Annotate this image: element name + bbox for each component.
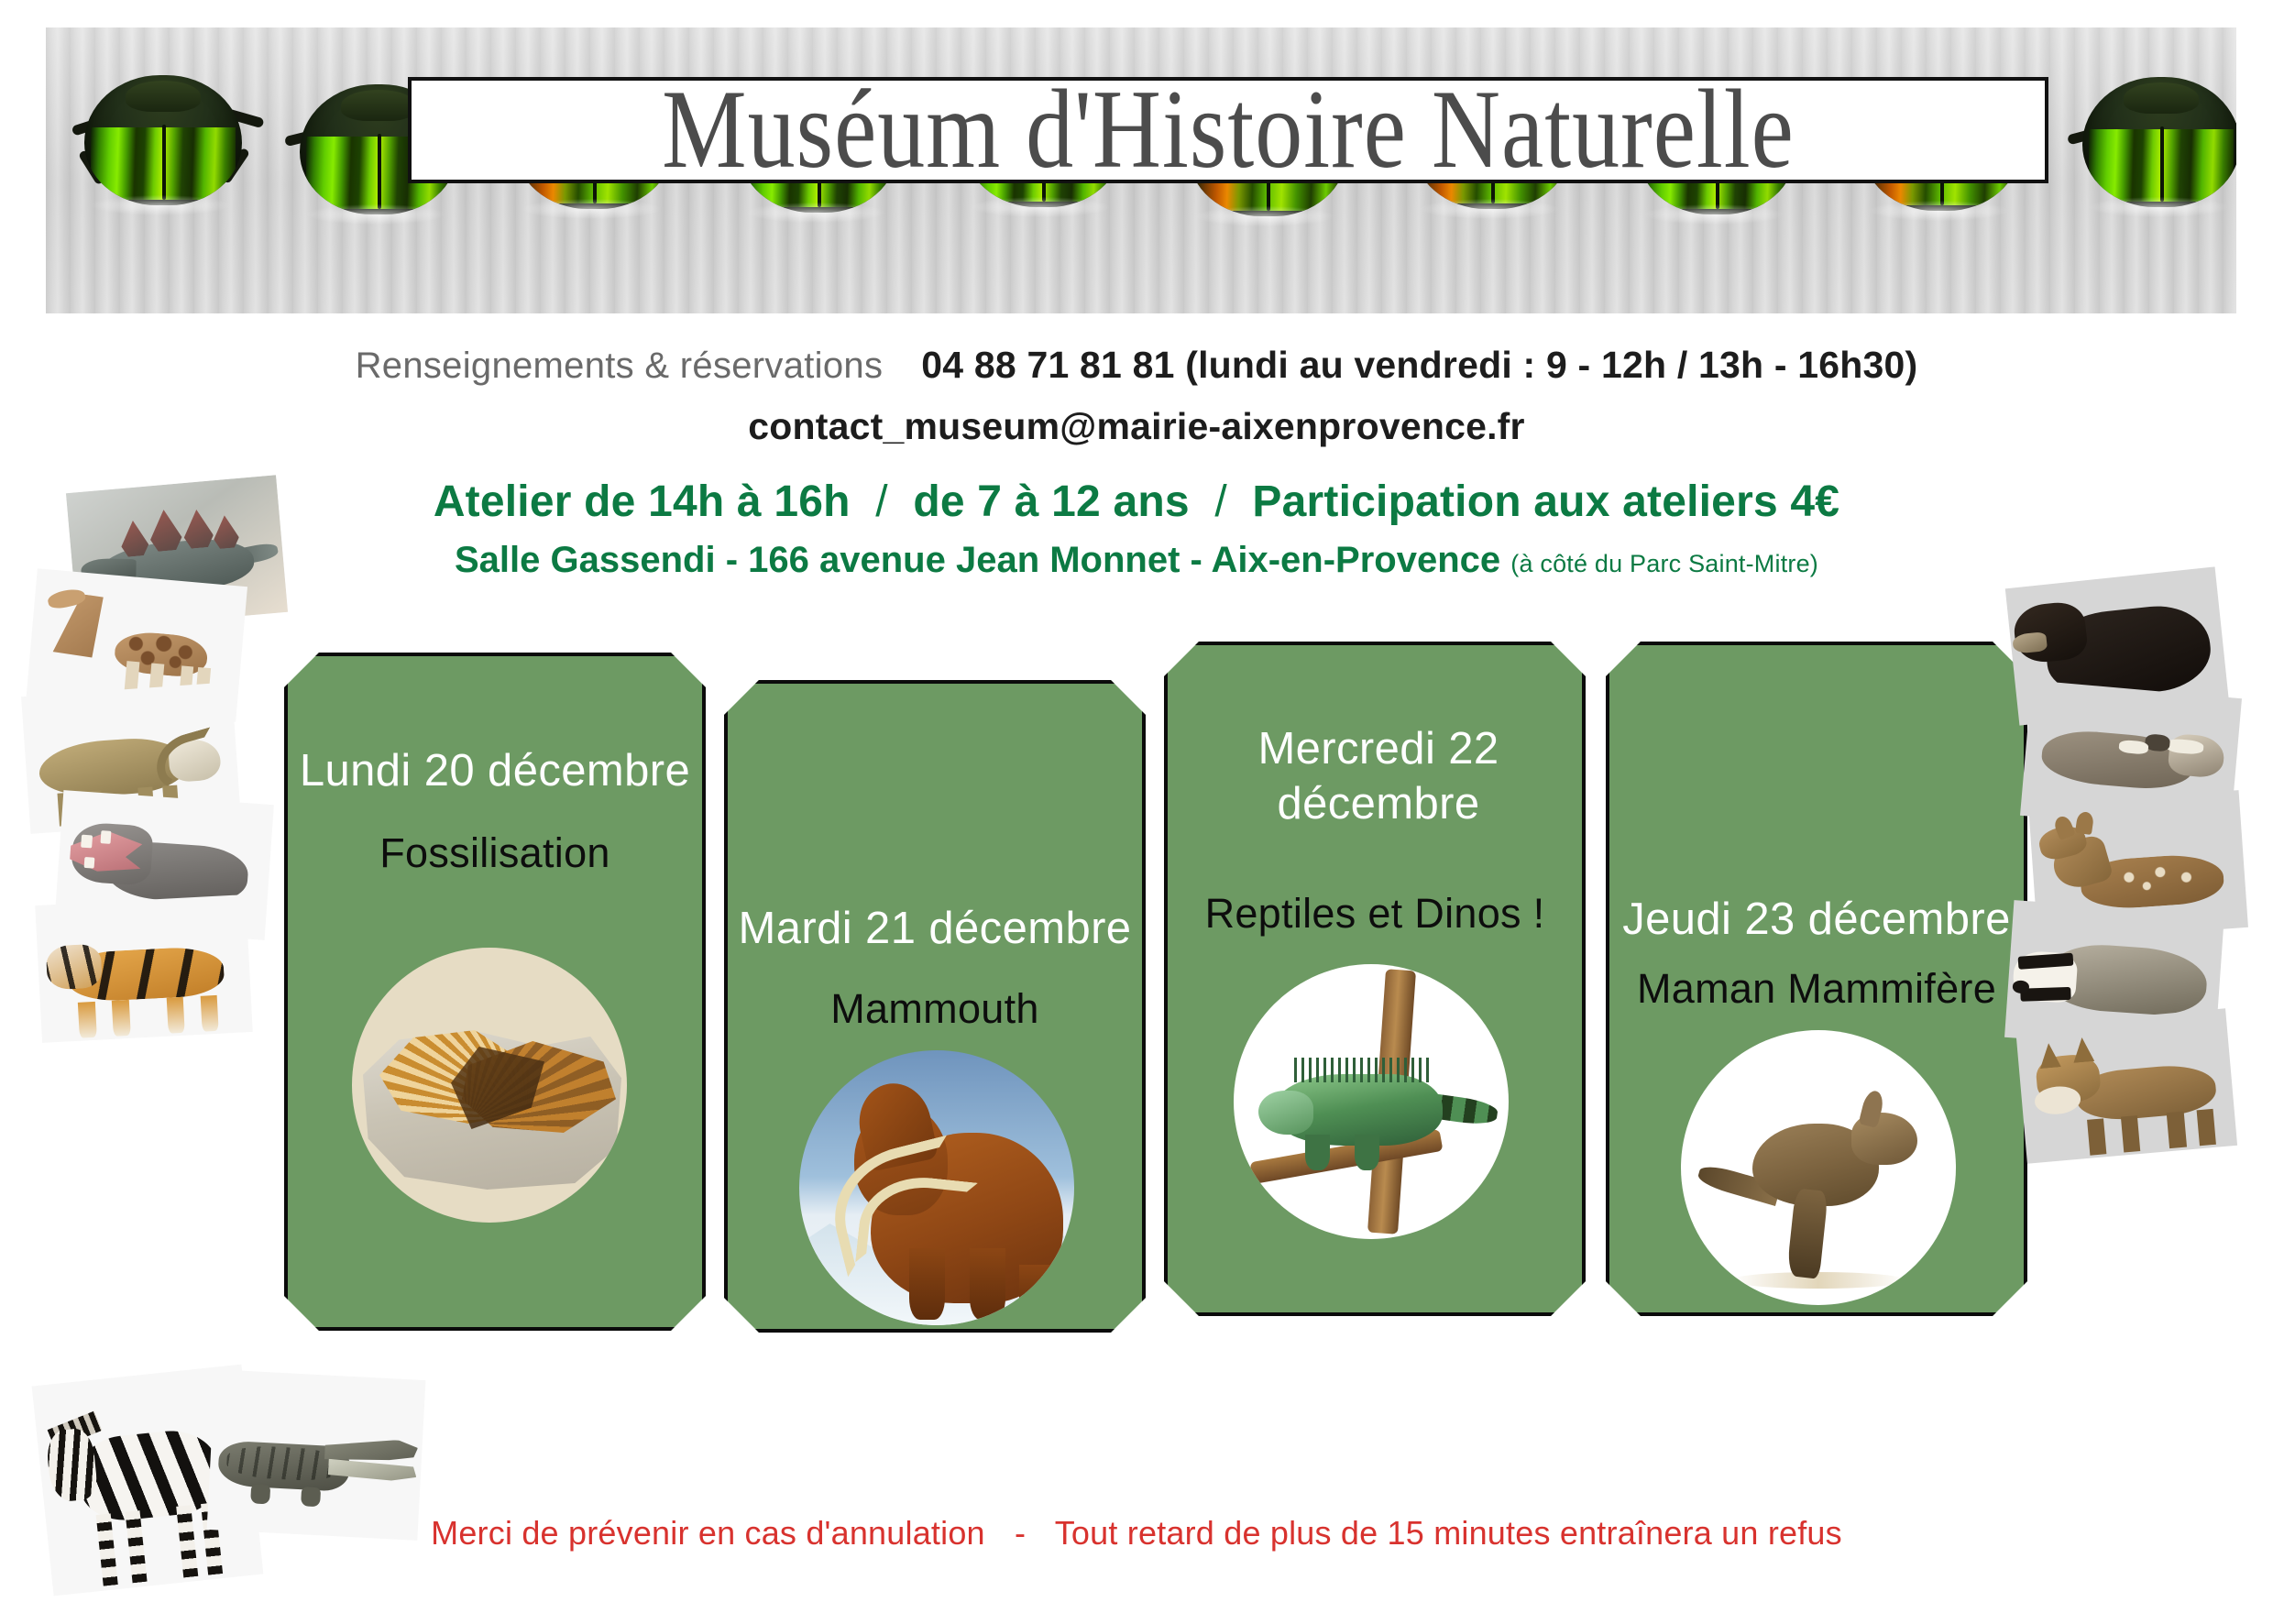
contact-info-block: Renseignements & réservations 04 88 71 8… bbox=[0, 344, 2273, 448]
footer-dash: - bbox=[994, 1514, 1046, 1552]
contact-line: Renseignements & réservations 04 88 71 8… bbox=[0, 344, 2273, 387]
kangaroo-photo bbox=[1681, 1030, 1956, 1305]
rose-chafer-beetle-icon bbox=[64, 44, 261, 232]
venue-line: Salle Gassendi - 166 avenue Jean Monnet … bbox=[0, 540, 2273, 581]
workshop-card[interactable]: Lundi 20 décembre Fossilisation bbox=[284, 653, 706, 1331]
lateness-notice: Tout retard de plus de 15 minutes entraî… bbox=[1055, 1514, 1842, 1552]
workshop-topic: Fossilisation bbox=[288, 828, 702, 878]
ammonite-fossil-photo bbox=[352, 948, 627, 1223]
detail-separator: / bbox=[862, 477, 901, 526]
workshop-card[interactable]: Mardi 21 décembre Mammouth bbox=[724, 680, 1146, 1333]
green-iguana-photo bbox=[1234, 964, 1509, 1239]
workshop-topic: Maman Mammifère bbox=[1609, 964, 2024, 1014]
contact-email[interactable]: contact_museum@mairie-aixenprovence.fr bbox=[0, 405, 2273, 448]
workshop-ages: de 7 à 12 ans bbox=[913, 477, 1189, 526]
workshop-details-line: Atelier de 14h à 16h / de 7 à 12 ans / P… bbox=[0, 477, 2273, 527]
venue-address: Salle Gassendi - 166 avenue Jean Monnet … bbox=[455, 540, 1500, 580]
workshop-card[interactable]: Mercredi 22 décembre Reptiles et Dinos ! bbox=[1164, 642, 1586, 1316]
workshop-date: Lundi 20 décembre bbox=[288, 744, 702, 799]
workshop-date: Mercredi 22 décembre bbox=[1219, 722, 1538, 832]
woolly-mammoth-photo bbox=[799, 1050, 1074, 1325]
workshop-card[interactable]: Jeudi 23 décembre Maman Mammifère bbox=[1606, 642, 2027, 1316]
workshop-date: Mardi 21 décembre bbox=[728, 902, 1142, 957]
tiger-figurine bbox=[35, 894, 253, 1043]
page-title: Muséum d'Histoire Naturelle bbox=[408, 77, 2048, 183]
detail-separator: / bbox=[1202, 477, 1240, 526]
workshop-date: Jeudi 23 décembre bbox=[1609, 893, 2024, 948]
fox-taxidermy bbox=[2015, 1008, 2237, 1163]
workshop-topic: Reptiles et Dinos ! bbox=[1168, 889, 1582, 938]
contact-phone: 04 88 71 81 81 (lundi au vendredi : 9 - … bbox=[921, 344, 1917, 386]
rose-chafer-beetle-icon bbox=[2062, 46, 2236, 234]
cancellation-notice: Merci de prévenir en cas d'annulation bbox=[431, 1514, 985, 1552]
footer-note: Merci de prévenir en cas d'annulation - … bbox=[0, 1514, 2273, 1553]
page-title-text: Muséum d'Histoire Naturelle bbox=[662, 74, 1795, 187]
venue-note: (à côté du Parc Saint-Mitre) bbox=[1510, 550, 1818, 577]
workshop-price: Participation aux ateliers 4€ bbox=[1252, 477, 1839, 526]
workshop-topic: Mammouth bbox=[728, 984, 1142, 1034]
contact-label: Renseignements & réservations bbox=[356, 346, 884, 386]
workshop-details-block: Atelier de 14h à 16h / de 7 à 12 ans / P… bbox=[0, 477, 2273, 581]
workshop-schedule: Atelier de 14h à 16h bbox=[434, 477, 851, 526]
